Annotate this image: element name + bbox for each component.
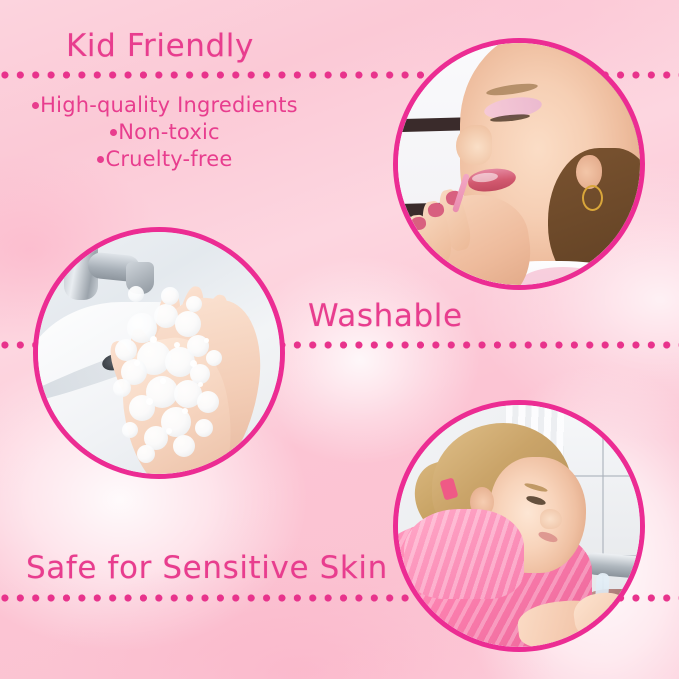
- soap-bubble: [175, 311, 201, 337]
- soap-bubble: [190, 364, 210, 384]
- kid-friendly-bullet-list: High-quality Ingredients Non-toxic Cruel…: [0, 92, 330, 173]
- soap-foam-layer: [38, 232, 280, 474]
- washable-title: Washable: [308, 298, 463, 334]
- girl-ear: [576, 155, 602, 189]
- soap-bubble: [161, 287, 179, 305]
- water-droplet: [578, 645, 583, 647]
- soap-bubble: [115, 339, 137, 361]
- soap-bubble-highlight: [204, 338, 209, 343]
- water-droplet: [612, 637, 617, 642]
- soap-bubble-highlight: [160, 378, 166, 384]
- soap-bubble-highlight: [134, 360, 140, 366]
- photo-soapy-hands-at-sink: [33, 227, 285, 479]
- soap-bubble: [206, 350, 222, 366]
- soap-bubble-highlight: [190, 360, 197, 367]
- safe-for-sensitive-skin-title: Safe for Sensitive Skin: [26, 550, 388, 586]
- soap-bubble: [195, 419, 213, 437]
- gold-hoop-earring: [582, 185, 603, 211]
- photo-toddler-washing-hands: [393, 400, 645, 652]
- water-droplet: [574, 635, 578, 639]
- water-droplet: [592, 641, 601, 647]
- list-item: High-quality Ingredients: [0, 92, 330, 119]
- list-item-label: High-quality Ingredients: [40, 93, 298, 117]
- soap-bubble: [197, 391, 219, 413]
- kid-friendly-title: Kid Friendly: [66, 28, 254, 64]
- photo-inner: [38, 232, 280, 474]
- soap-bubble-highlight: [182, 408, 188, 414]
- bullet-dot-icon: [32, 102, 39, 109]
- soap-bubble: [122, 422, 138, 438]
- photo-inner: [398, 43, 640, 285]
- water-splash-layer: [398, 405, 640, 647]
- photo-girl-applying-lip-gloss: [393, 38, 645, 290]
- bullet-dot-icon: [97, 156, 104, 163]
- soap-bubble-highlight: [198, 382, 203, 387]
- soap-bubble: [113, 379, 131, 397]
- girl-nose: [456, 125, 492, 165]
- list-item-label: Cruelty-free: [105, 147, 232, 171]
- water-droplet: [598, 631, 604, 637]
- list-item: Cruelty-free: [0, 146, 330, 173]
- soap-bubble-highlight: [174, 342, 180, 348]
- soap-bubble: [186, 296, 202, 312]
- soap-bubble-highlight: [146, 398, 153, 405]
- bullet-dot-icon: [110, 129, 117, 136]
- soap-bubble-highlight: [166, 428, 172, 434]
- list-item-label: Non-toxic: [118, 120, 220, 144]
- product-feature-infographic: Kid Friendly High-quality Ingredients No…: [0, 0, 679, 679]
- photo-inner: [398, 405, 640, 647]
- list-item: Non-toxic: [0, 119, 330, 146]
- soap-bubble: [137, 445, 155, 463]
- soap-bubble: [173, 435, 195, 457]
- soap-bubble: [128, 286, 144, 302]
- soap-bubble-highlight: [150, 336, 157, 343]
